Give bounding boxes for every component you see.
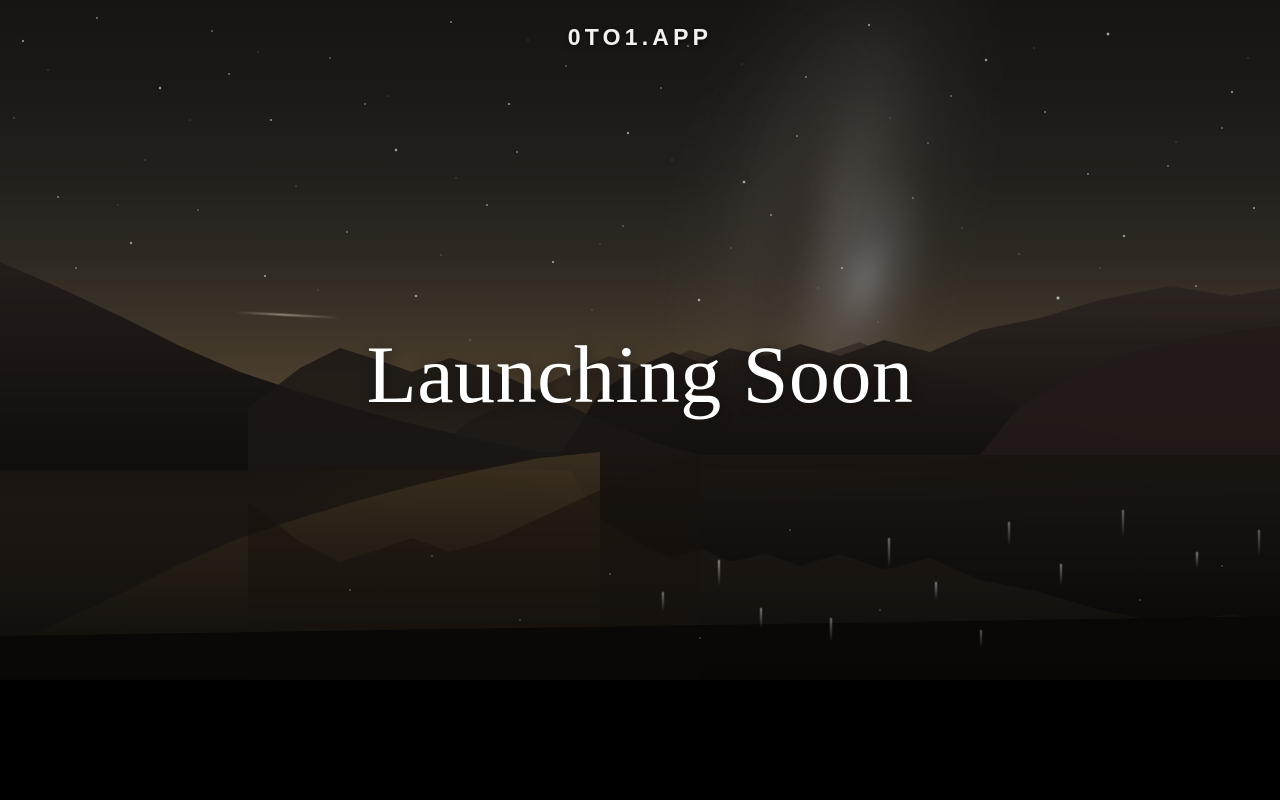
page-title: Launching Soon [0, 332, 1280, 418]
water-star-points [0, 470, 1280, 680]
site-logo[interactable]: 0TO1.APP [0, 24, 1280, 51]
hero-section: 0TO1.APP Launching Soon [0, 0, 1280, 680]
footer: Copyright © 2026 0to1.app - All Rights R… [0, 680, 1280, 800]
landing-page: 0TO1.APP Launching Soon Copyright © 2026… [0, 0, 1280, 800]
